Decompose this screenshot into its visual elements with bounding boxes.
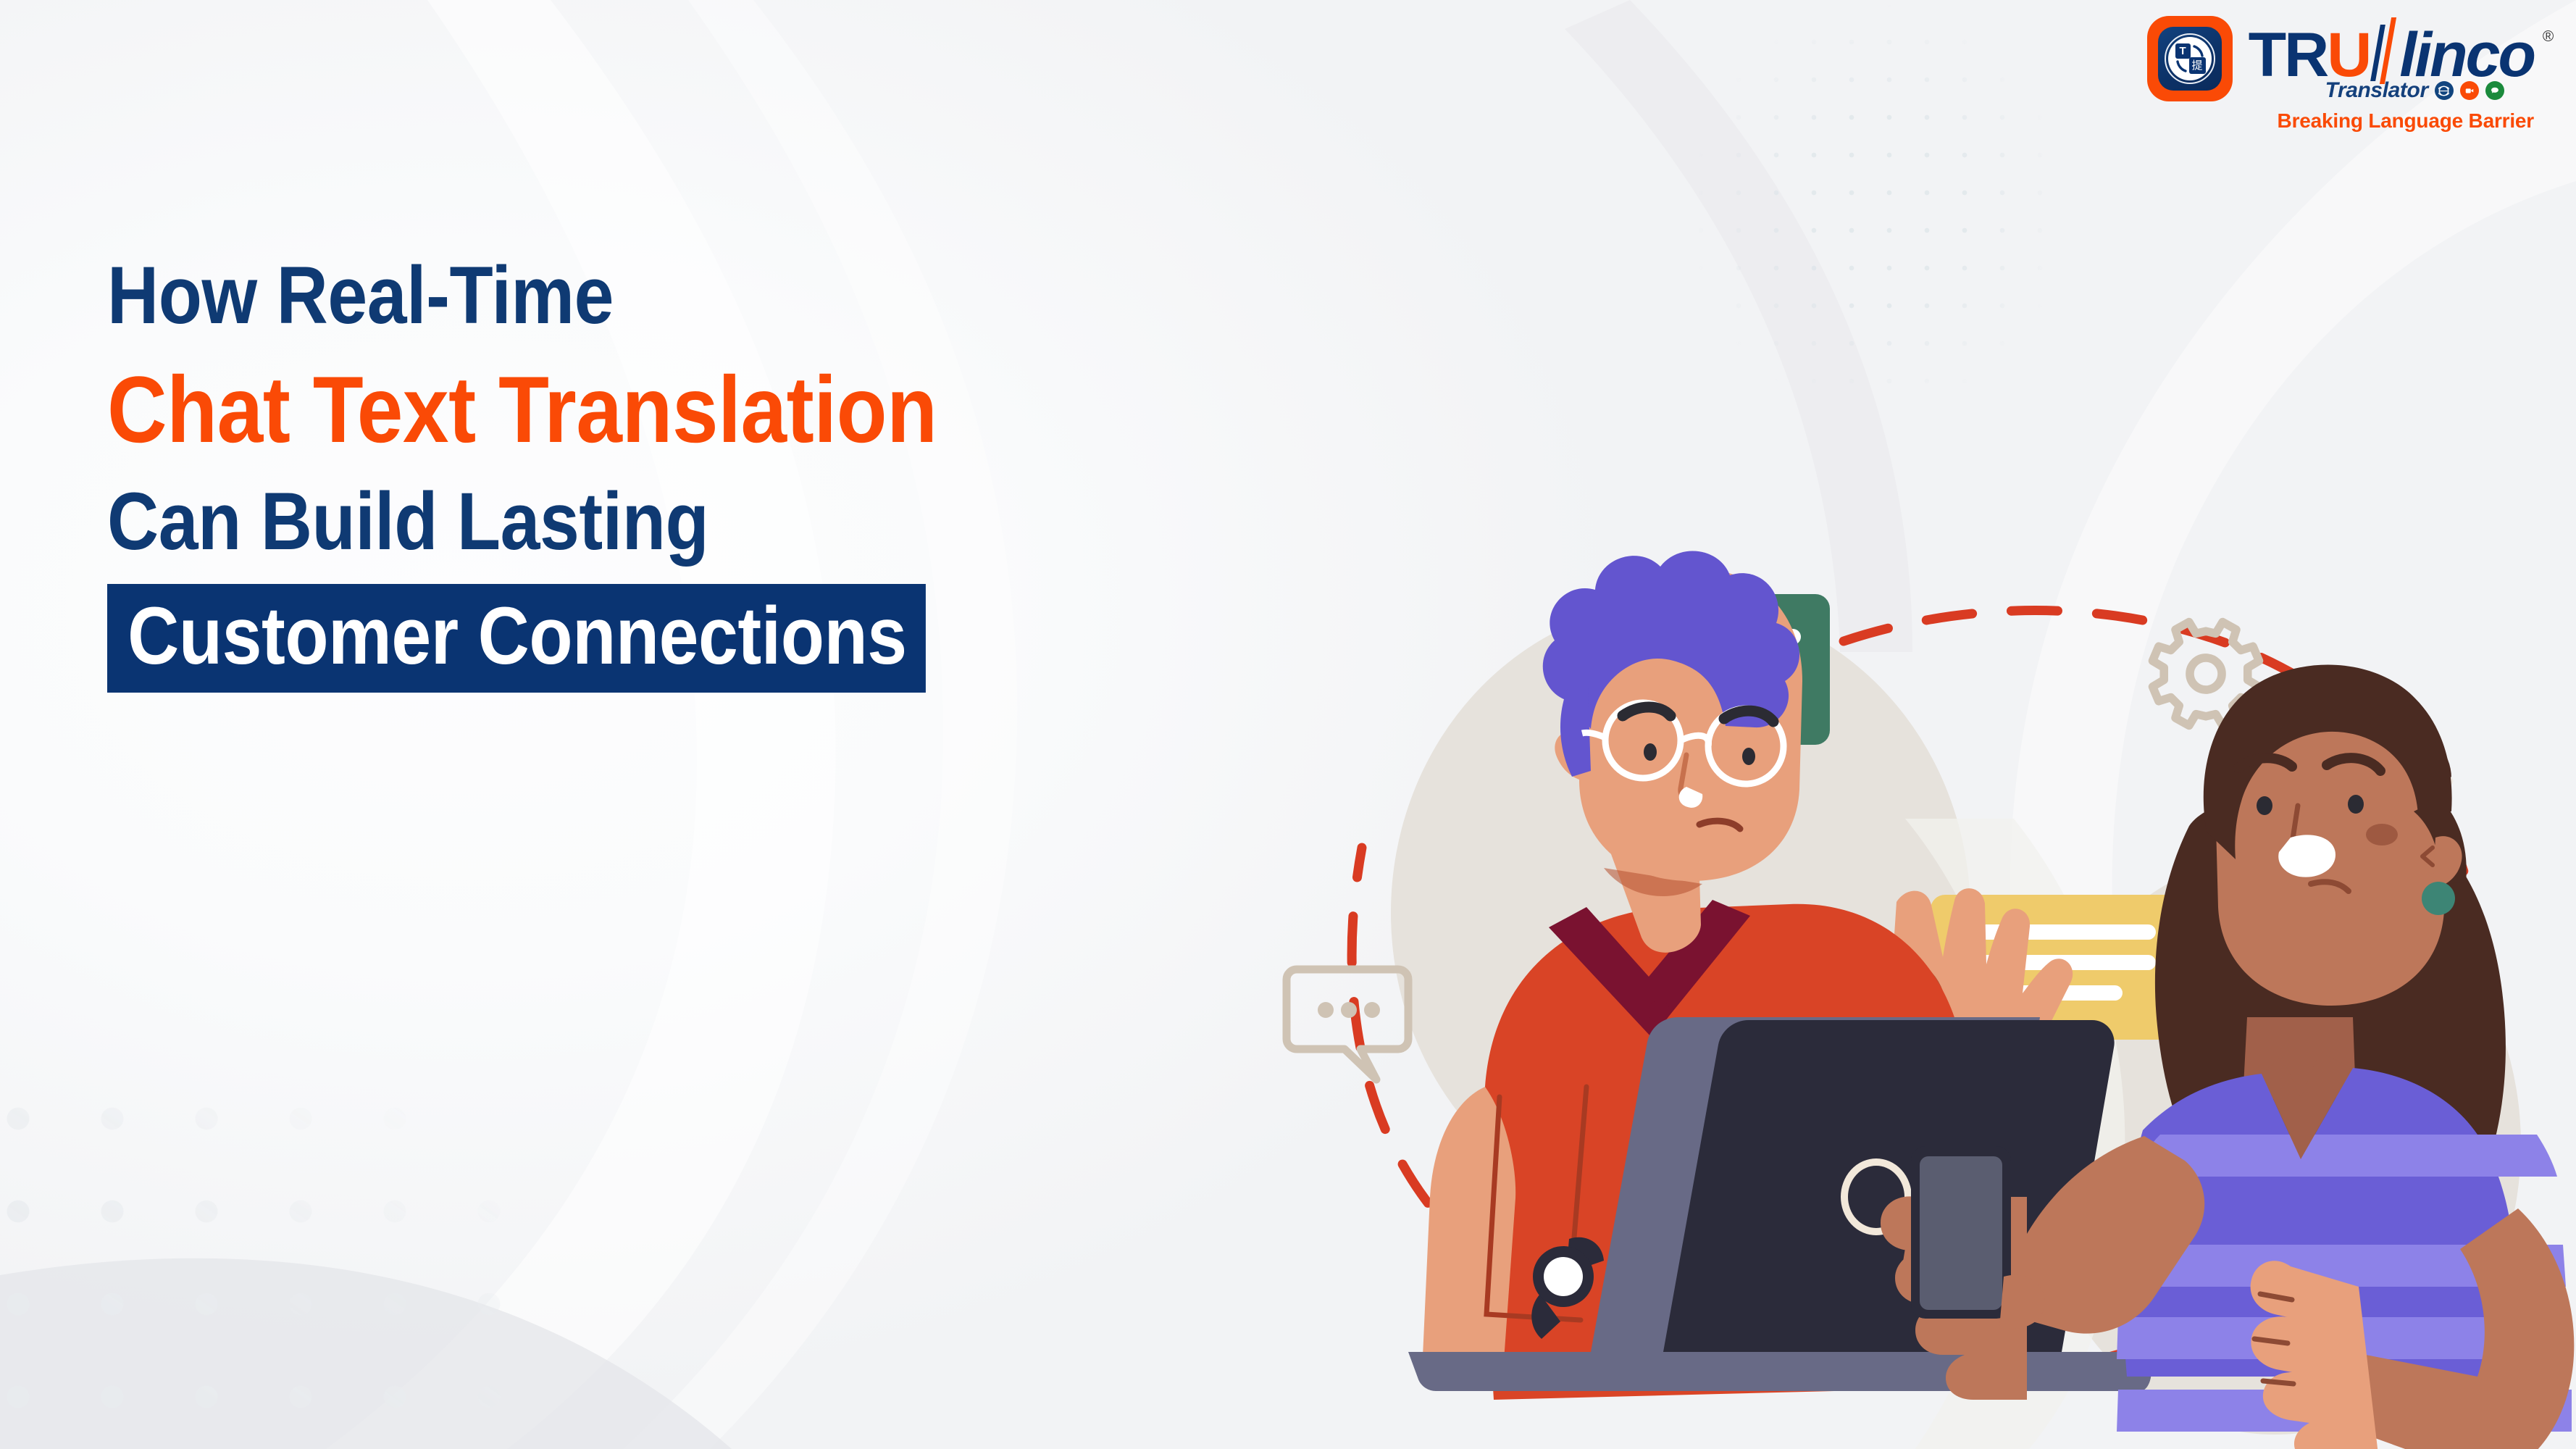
headline-line-1: How Real-Time [107,255,1318,336]
dot-grid-pattern-bottom-left [0,1072,536,1449]
headline-line-3: Can Build Lasting [107,481,1318,562]
illustration-scene [1275,507,2572,1449]
headline-line-4: Customer Connections [127,596,906,677]
translate-glyph-disc: T 提 [2168,37,2212,80]
logo-mark-inner: T 提 [2158,27,2222,91]
headline-line-2: Chat Text Translation [107,362,1318,456]
brand-name-linco: linco® [2399,27,2534,84]
headline-highlight-box: Customer Connections [107,584,926,693]
logo-ring: T 提 [2165,33,2215,84]
dot-grid-pattern-top-right [1644,0,2151,493]
logo-brand-row: TRU linco® [2249,17,2534,84]
registered-trademark-icon: ® [2543,30,2551,43]
illustration-svg [1275,507,2572,1449]
brand-logo[interactable]: T 提 TRU linco® Translator [2147,16,2534,133]
rotate-arrows-icon [2168,37,2212,80]
woman-earring [2422,882,2455,915]
brand-name-tru: TRU [2249,27,2370,84]
typing-indicator-bubble-icon [1287,969,1408,1080]
logo-tagline: Breaking Language Barrier [2278,109,2534,133]
logo-mark-icon: T 提 [2147,16,2233,101]
banner-canvas: How Real-Time Chat Text Translation Can … [0,0,2576,1449]
logo-wordmark: TRU linco® Translator Breaking Language … [2249,16,2534,133]
man-left-arm [1423,1087,1515,1361]
